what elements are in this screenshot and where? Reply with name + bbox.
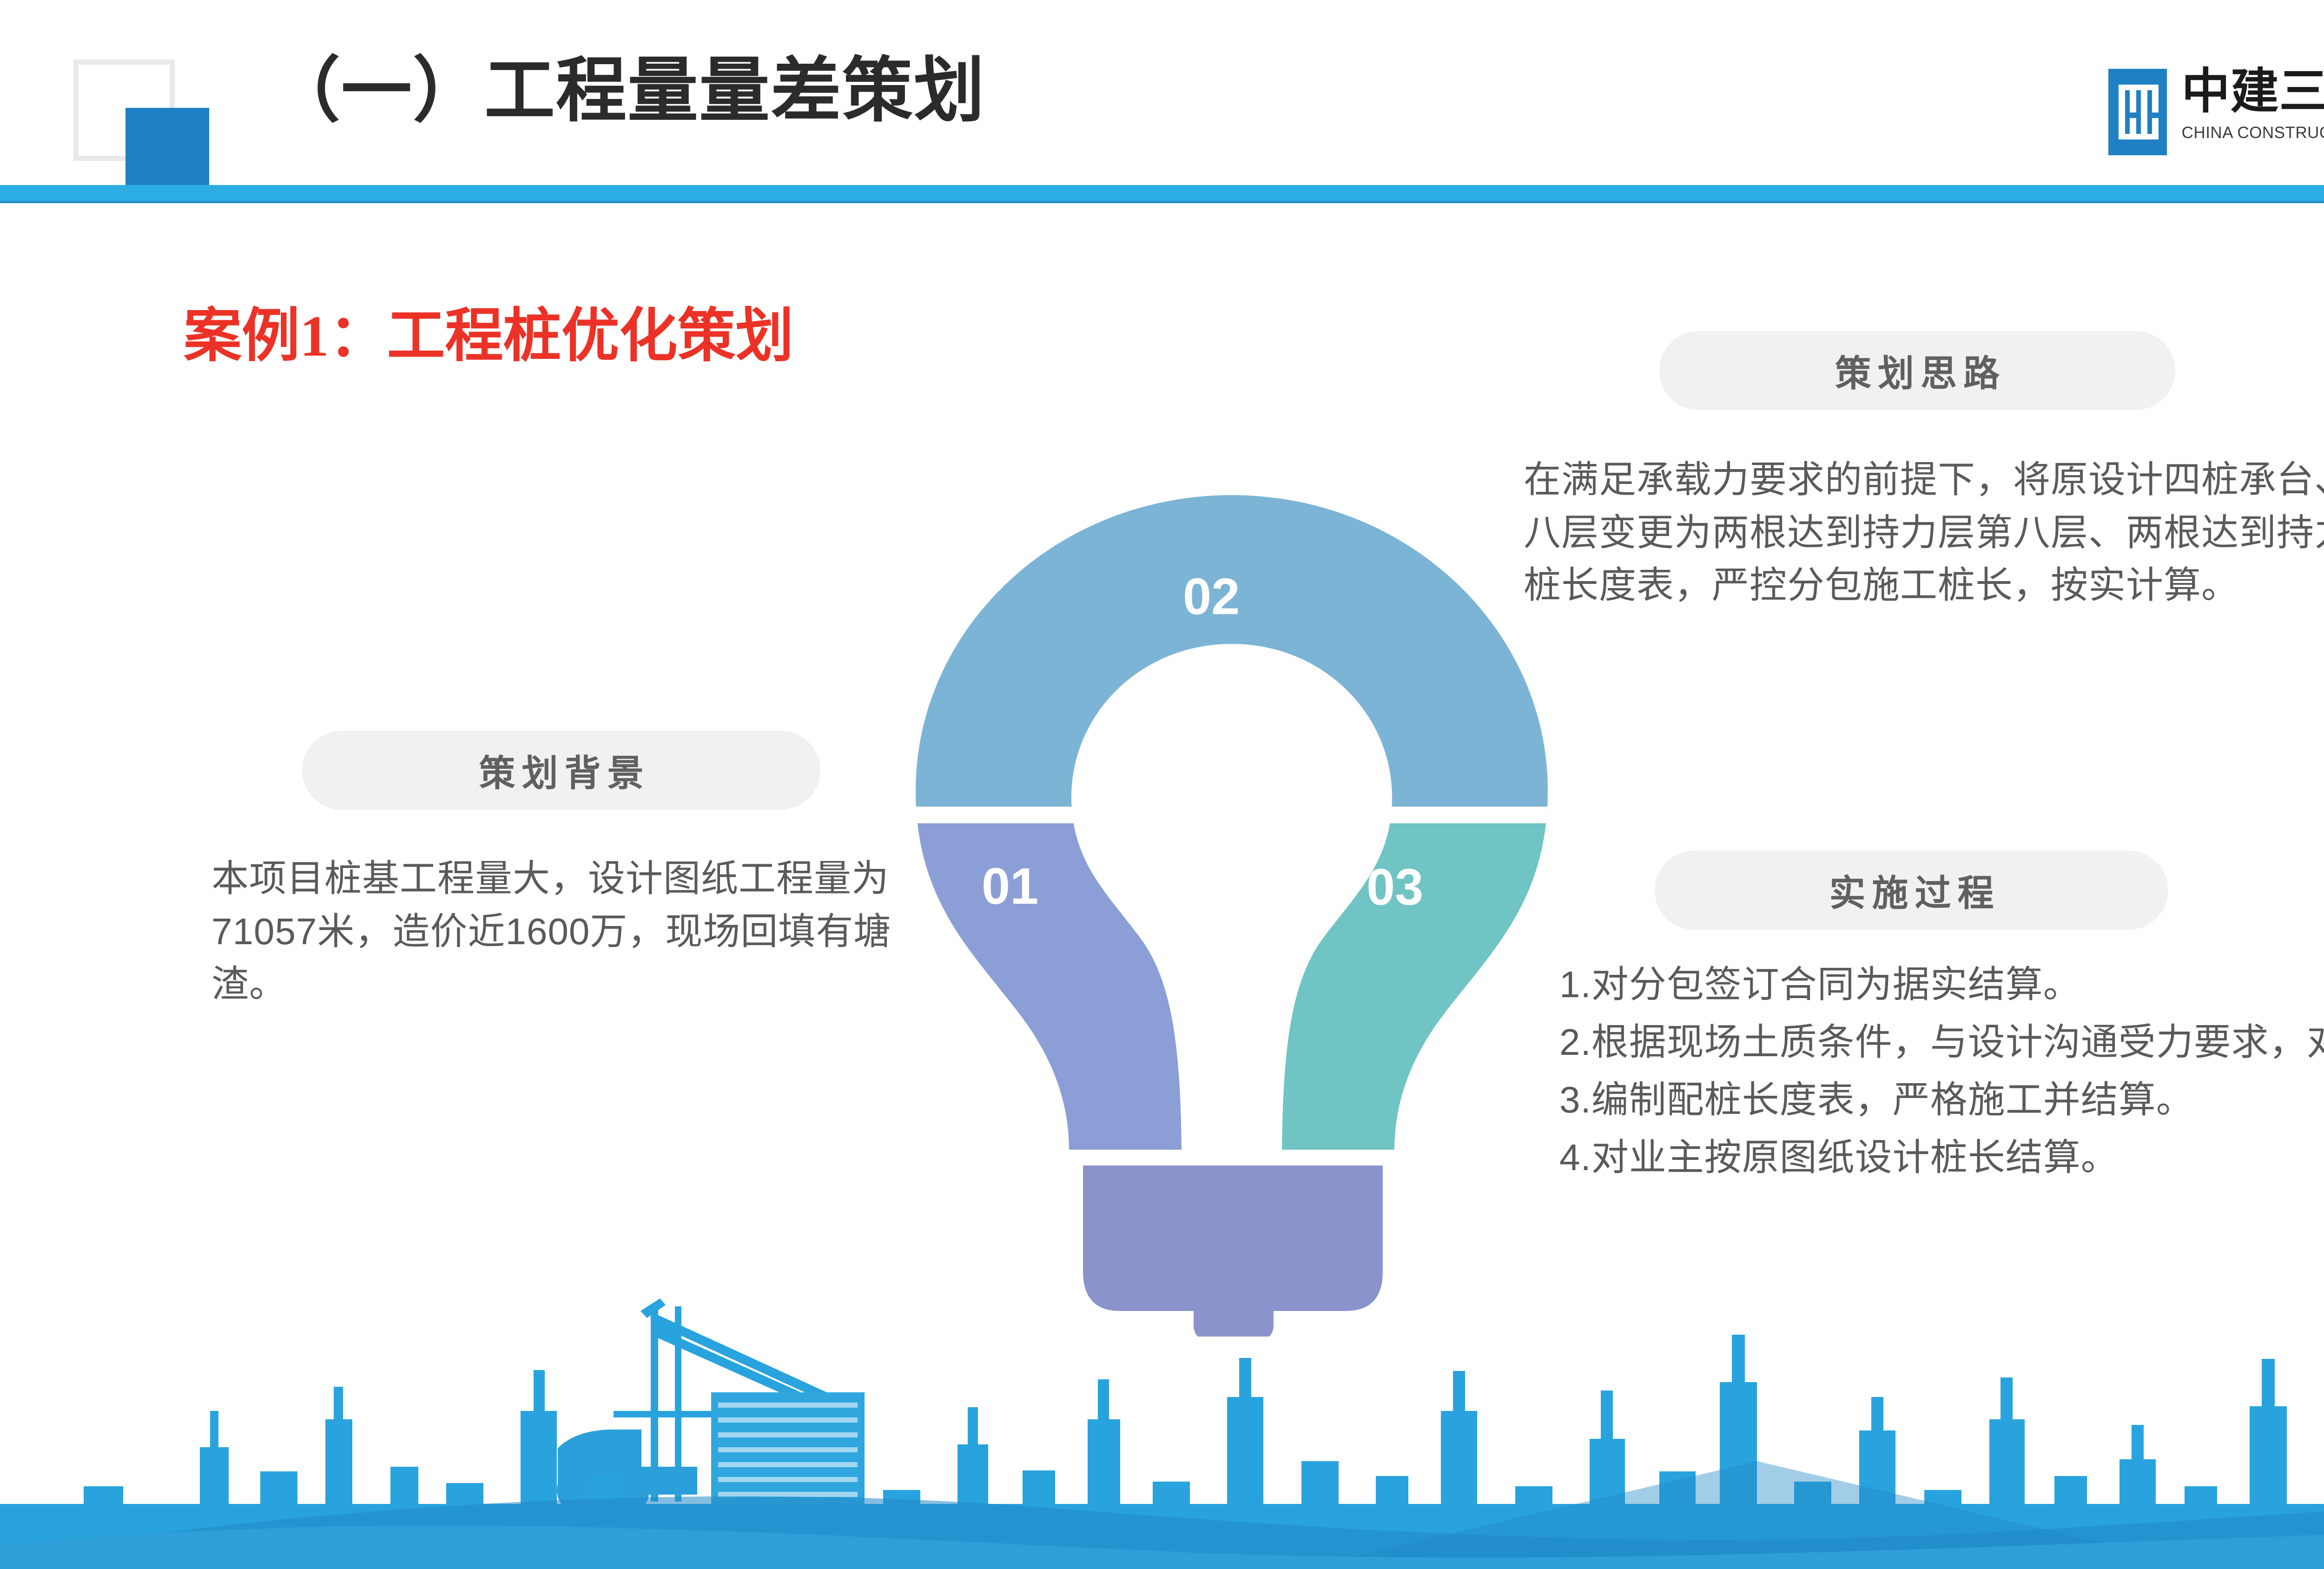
- company-logo: 中建三局集团有限公司 CHINA CONSTRUCTION THIRD ENGI…: [2108, 65, 2324, 155]
- section-body-idea: 在满足承载力要求的前提下，将原设计四桩承台、桩长达到持力层第八层变更为两根达到持…: [1524, 453, 2324, 612]
- list-item: 4.对业主按原图纸设计桩长结算。: [1559, 1131, 2324, 1185]
- section-body-process: 1.对分包签订合同为据实结算。 2.根据现场土质条件，与设计沟通受力要求，对桩长…: [1559, 958, 2324, 1188]
- wave-shadow-front: [1301, 1461, 2212, 1569]
- bulb-segment-label-01: 01: [982, 857, 1038, 916]
- wave-shadow-back: [0, 1483, 2324, 1569]
- list-item: 3.编制配桩长度表，严格施工并结算。: [1559, 1073, 2324, 1127]
- bulb-segment-label-03: 03: [1367, 858, 1423, 917]
- section-body-background: 本项目桩基工程量大，设计图纸工程量为71057米，造价近1600万，现场回填有塘…: [211, 852, 909, 1011]
- wave-foreground: [0, 1526, 2324, 1569]
- decorative-square-filled: [125, 108, 209, 192]
- company-name-block: 中建三局集团有限公司 CHINA CONSTRUCTION THIRD ENGI…: [2182, 65, 2324, 142]
- company-name-cn: 中建三局集团有限公司: [2182, 65, 2324, 118]
- building-under-construction: [711, 1392, 865, 1532]
- lightbulb-diagram: 01 02 03: [902, 486, 1562, 1337]
- bulb-segment-label-02: 02: [1183, 567, 1240, 626]
- header-accent-bar: [0, 185, 2324, 201]
- slide-root: （一）工程量量差策划 中建三局集团有限公司 CHINA CONSTRUCTION…: [0, 0, 2324, 1569]
- section-heading-process: 实施过程: [1655, 851, 2168, 930]
- section-heading-background: 策划背景: [302, 731, 820, 810]
- section-heading-idea: 策划思路: [1659, 331, 2175, 410]
- skyline-silhouette: [0, 1335, 2324, 1569]
- case-title: 案例1：工程桩优化策划: [184, 288, 794, 372]
- company-name-en: CHINA CONSTRUCTION THIRD ENGINEERING BUR…: [2182, 124, 2324, 142]
- list-item: 1.对分包签订合同为据实结算。: [1559, 958, 2324, 1012]
- header-accent-bar-shadow: [0, 201, 2324, 203]
- slide-header: （一）工程量量差策划 中建三局集团有限公司 CHINA CONSTRUCTION…: [0, 0, 2324, 200]
- excavator-silhouette: [557, 1430, 697, 1514]
- cscec-logo-icon: [2108, 69, 2167, 155]
- construction-crane-icon: [614, 1298, 832, 1502]
- bulb-base: [1083, 1165, 1383, 1337]
- list-item: 2.根据现场土质条件，与设计沟通受力要求，对桩长进行优化。: [1559, 1015, 2324, 1069]
- page-title: （一）工程量量差策划: [270, 46, 985, 135]
